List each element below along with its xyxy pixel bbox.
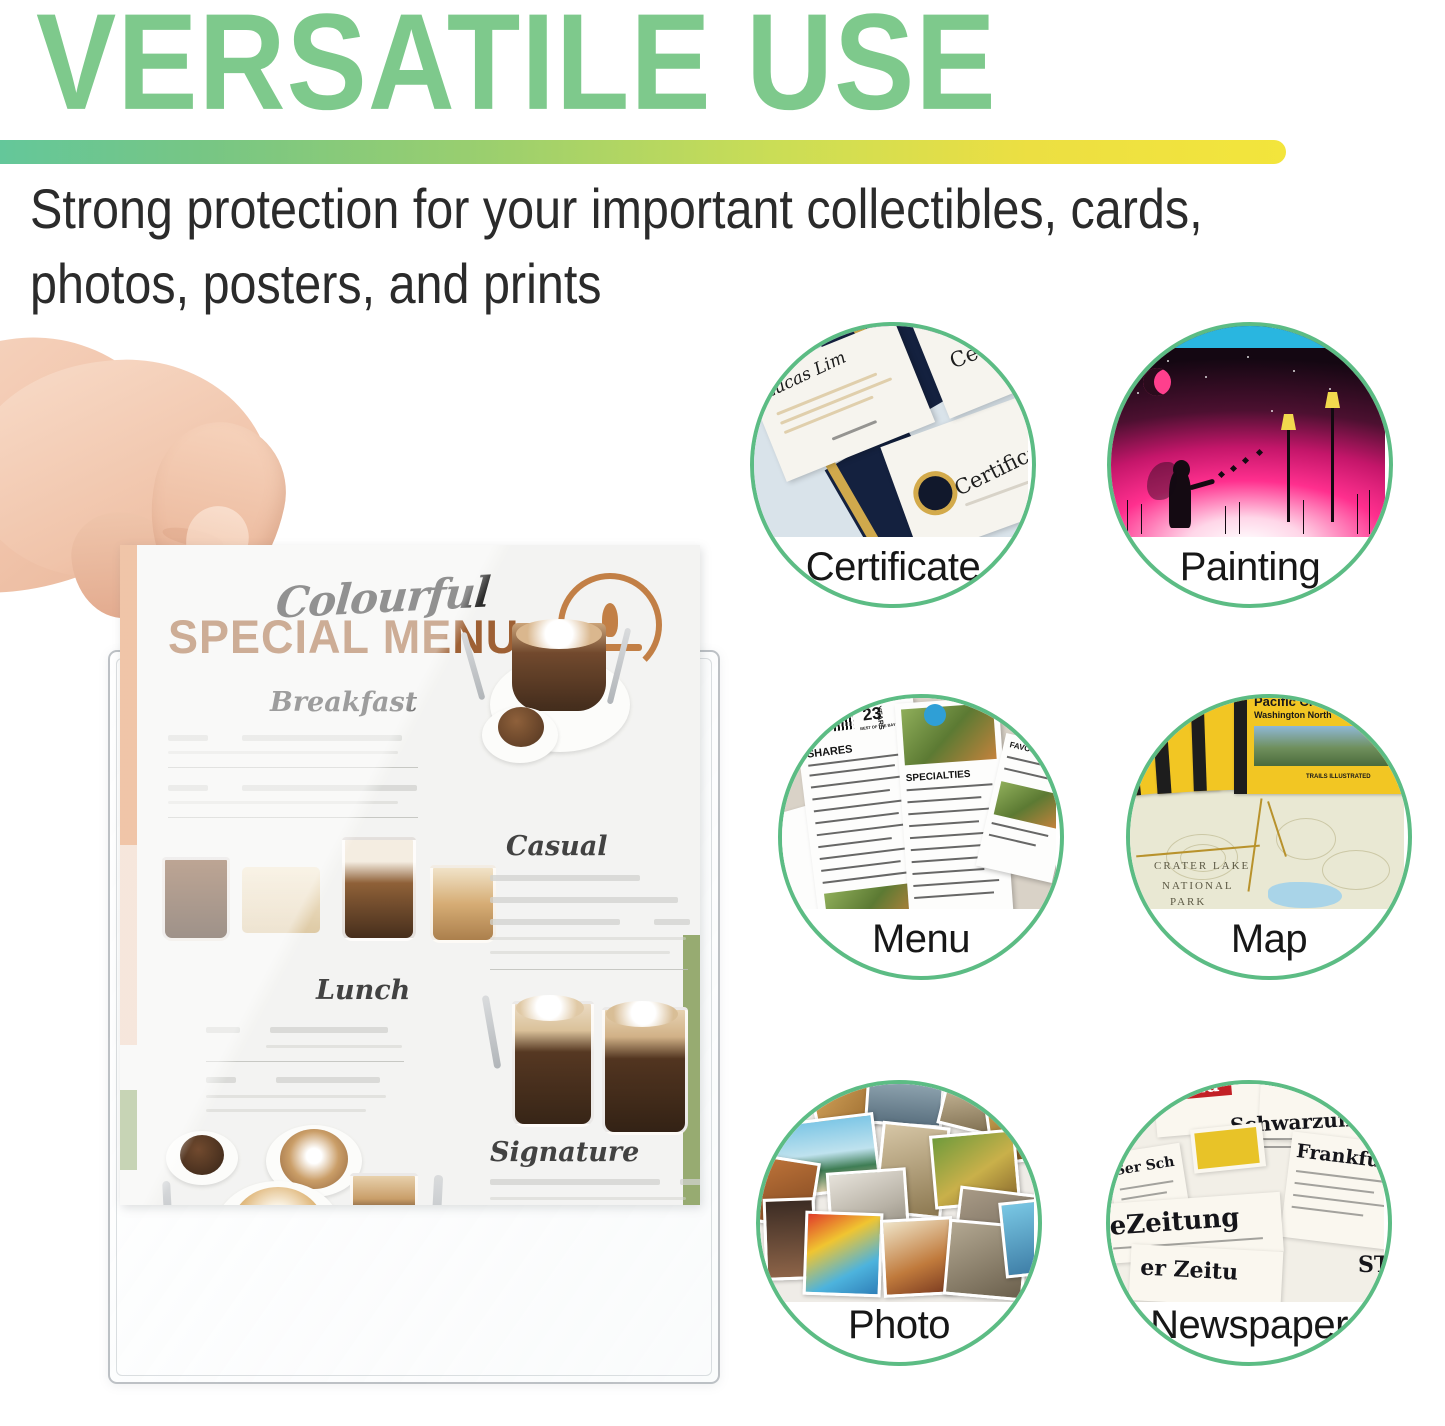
coffee-cup-4 <box>430 865 496 943</box>
newspaper-title-st: ST <box>1358 1252 1384 1278</box>
menu-section-signature: Signature <box>490 1137 639 1168</box>
menu-heading-specialties: SPECIALTIES <box>905 769 970 784</box>
use-case-label-newspaper: Newspaper <box>1110 1303 1388 1348</box>
coffee-cup-3 <box>342 837 416 941</box>
menu-section-casual: Casual <box>506 831 608 862</box>
dessert-block <box>242 867 320 933</box>
header-block: VERSATILE USE Strong protection for your… <box>0 0 1445 310</box>
menu-heading-shares: SHARES <box>806 743 853 760</box>
use-case-newspaper[interactable]: Bild Schwarzung Frankfurt Ser Sch <box>1106 1080 1392 1366</box>
map-place-1: CRATER LAKE <box>1154 860 1250 872</box>
use-case-label-certificate: Certificate <box>754 545 1032 590</box>
use-case-label-photo: Photo <box>760 1303 1038 1348</box>
knife-icon <box>430 1175 443 1205</box>
product-photo: Colourful SPECIAL MENU Breakfast <box>0 330 740 1426</box>
use-case-grid: Lucas Lim Certificate Ce Certificate <box>742 320 1445 1426</box>
newspaper-title-frankfurt: Frankfurt <box>1295 1140 1384 1174</box>
newspaper-title-zeitung: eZeitung <box>1109 1203 1241 1242</box>
fork-icon <box>162 1181 174 1205</box>
menu-accent-left-2 <box>120 845 137 1045</box>
coffee-cup-5 <box>350 1173 418 1205</box>
map-place-2: NATIONAL <box>1162 880 1234 892</box>
certificate-word: Certificate <box>951 430 1028 501</box>
photo-art <box>756 1080 1034 1302</box>
certificate-word-2: Ce <box>946 340 981 373</box>
use-case-label-painting: Painting <box>1111 545 1389 590</box>
menu-blue-badge <box>924 704 946 726</box>
gradient-divider <box>0 140 1286 164</box>
map-subtitle: Washington North <box>1254 710 1332 720</box>
use-case-map[interactable]: NATIONAL GEOGRAPHIC Pacific Crest Trail … <box>1126 694 1412 980</box>
map-title: Pacific Crest Trail <box>1254 694 1363 709</box>
menu-art: 23 YEARS BEST OF THE BAY SHARES SPECI <box>778 694 1056 909</box>
coffee-cup-2 <box>162 857 230 941</box>
map-art: NATIONAL GEOGRAPHIC Pacific Crest Trail … <box>1126 694 1404 909</box>
use-case-menu[interactable]: 23 YEARS BEST OF THE BAY SHARES SPECI <box>778 694 1064 980</box>
newspaper-art: Bild Schwarzung Frankfurt Ser Sch <box>1106 1080 1384 1302</box>
crescent-moon-icon <box>1143 368 1171 396</box>
use-case-painting[interactable]: Painting <box>1107 322 1393 608</box>
menu-accent-green <box>120 1090 137 1170</box>
certificate-art: Lucas Lim Certificate Ce <box>750 322 1028 537</box>
menu-section-breakfast: Breakfast <box>270 687 417 718</box>
menu-heading-favorites: FAVORITES <box>1009 740 1055 759</box>
menu-sheet: Colourful SPECIAL MENU Breakfast <box>120 545 700 1205</box>
map-place-3: PARK <box>1170 896 1206 908</box>
use-case-label-map: Map <box>1130 917 1408 962</box>
use-case-certificate[interactable]: Lucas Lim Certificate Ce Certificate <box>750 322 1036 608</box>
painting-art <box>1107 322 1385 537</box>
page-subtitle: Strong protection for your important col… <box>30 172 1310 322</box>
use-case-photo[interactable]: Photo <box>756 1080 1042 1366</box>
use-case-label-menu: Menu <box>782 917 1060 962</box>
page-title: VERSATILE USE <box>36 0 997 131</box>
newspaper-title-bild: Bild <box>1172 1080 1220 1100</box>
menu-accent-left <box>120 545 137 845</box>
map-series: TRAILS ILLUSTRATED <box>1306 774 1371 780</box>
menu-section-lunch: Lunch <box>316 975 410 1006</box>
